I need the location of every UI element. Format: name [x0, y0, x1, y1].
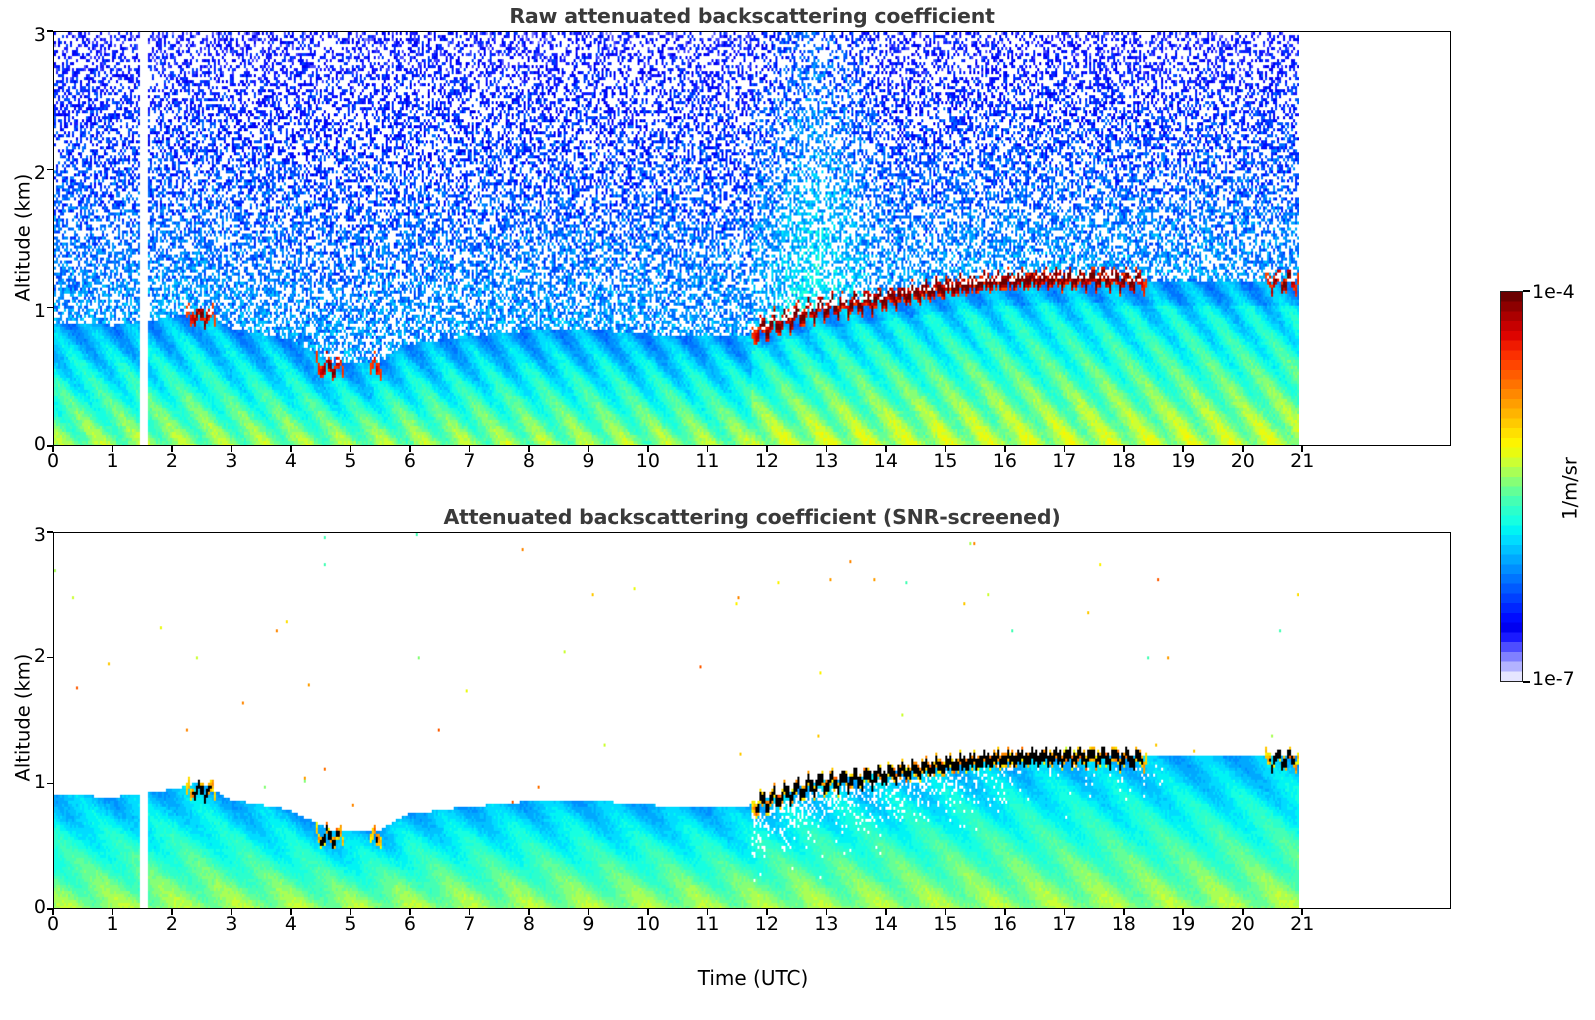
xtick-screened-15: 15	[925, 915, 965, 934]
xtick-raw-11: 11	[687, 452, 727, 471]
xtick-raw-16: 16	[985, 452, 1025, 471]
xtick-raw-7: 7	[449, 452, 489, 471]
colorbar-min-label: 1e-7	[1532, 668, 1575, 690]
xtick-raw-12: 12	[747, 452, 787, 471]
colorbar-tick-min	[1523, 681, 1530, 683]
xlabel-time: Time (UTC)	[553, 966, 953, 990]
xtick-raw-9: 9	[568, 452, 608, 471]
ytick-mark-screened-0	[47, 908, 53, 910]
ylabel-raw: Altitude (km)	[12, 182, 35, 302]
xtick-raw-10: 10	[628, 452, 668, 471]
figure-canvas: Raw attenuated backscattering coefficien…	[0, 0, 1595, 1020]
plot-area-raw	[53, 31, 1451, 446]
ytick-mark-screened-2	[47, 657, 53, 659]
xtick-raw-5: 5	[330, 452, 370, 471]
xtick-screened-2: 2	[152, 915, 192, 934]
xtick-screened-17: 17	[1044, 915, 1084, 934]
xtick-raw-6: 6	[390, 452, 430, 471]
colorbar-unit-label: 1/m/sr	[1559, 429, 1582, 549]
ytick-mark-raw-2	[47, 169, 53, 171]
panel-title-raw: Raw attenuated backscattering coefficien…	[53, 4, 1451, 28]
xtick-raw-4: 4	[271, 452, 311, 471]
xtick-screened-7: 7	[449, 915, 489, 934]
heatmap-raw-canvas	[54, 32, 1299, 445]
xtick-screened-3: 3	[211, 915, 251, 934]
ytick-mark-screened-1	[47, 783, 53, 785]
ytick-mark-screened-3	[47, 531, 53, 533]
xtick-raw-8: 8	[509, 452, 549, 471]
xtick-screened-18: 18	[1104, 915, 1144, 934]
xtick-screened-8: 8	[509, 915, 549, 934]
xtick-screened-19: 19	[1163, 915, 1203, 934]
xtick-screened-20: 20	[1223, 915, 1263, 934]
xtick-screened-16: 16	[985, 915, 1025, 934]
heatmap-screened-canvas	[54, 533, 1299, 908]
xtick-raw-20: 20	[1223, 452, 1263, 471]
xtick-screened-13: 13	[806, 915, 846, 934]
plot-area-screened	[53, 532, 1451, 909]
xtick-raw-3: 3	[211, 452, 251, 471]
colorbar-tick-max	[1523, 290, 1530, 292]
xtick-screened-14: 14	[866, 915, 906, 934]
heatmap-screened	[54, 533, 1299, 908]
ytick-mark-raw-3	[47, 30, 53, 32]
ytick-raw-1: 1	[6, 302, 46, 321]
ytick-mark-raw-0	[47, 445, 53, 447]
xtick-raw-18: 18	[1104, 452, 1144, 471]
colorbar-max-label: 1e-4	[1532, 281, 1575, 303]
xtick-screened-1: 1	[92, 915, 132, 934]
ytick-mark-raw-1	[47, 307, 53, 309]
xtick-raw-15: 15	[925, 452, 965, 471]
xtick-raw-17: 17	[1044, 452, 1084, 471]
ytick-raw-3: 3	[6, 26, 46, 45]
panel-title-screened: Attenuated backscattering coefficient (S…	[53, 505, 1451, 529]
xtick-screened-10: 10	[628, 915, 668, 934]
xtick-raw-2: 2	[152, 452, 192, 471]
xtick-screened-5: 5	[330, 915, 370, 934]
xtick-screened-4: 4	[271, 915, 311, 934]
xtick-raw-21: 21	[1282, 452, 1322, 471]
xtick-screened-6: 6	[390, 915, 430, 934]
xtick-raw-1: 1	[92, 452, 132, 471]
heatmap-raw	[54, 32, 1299, 445]
ytick-screened-3: 3	[6, 526, 46, 545]
xtick-screened-21: 21	[1282, 915, 1322, 934]
xtick-screened-11: 11	[687, 915, 727, 934]
xtick-screened-12: 12	[747, 915, 787, 934]
xtick-raw-19: 19	[1163, 452, 1203, 471]
xtick-screened-0: 0	[33, 915, 73, 934]
xtick-raw-13: 13	[806, 452, 846, 471]
xtick-raw-14: 14	[866, 452, 906, 471]
ylabel-screened: Altitude (km)	[12, 662, 35, 782]
xtick-screened-9: 9	[568, 915, 608, 934]
colorbar	[1500, 291, 1523, 682]
xtick-raw-0: 0	[33, 452, 73, 471]
